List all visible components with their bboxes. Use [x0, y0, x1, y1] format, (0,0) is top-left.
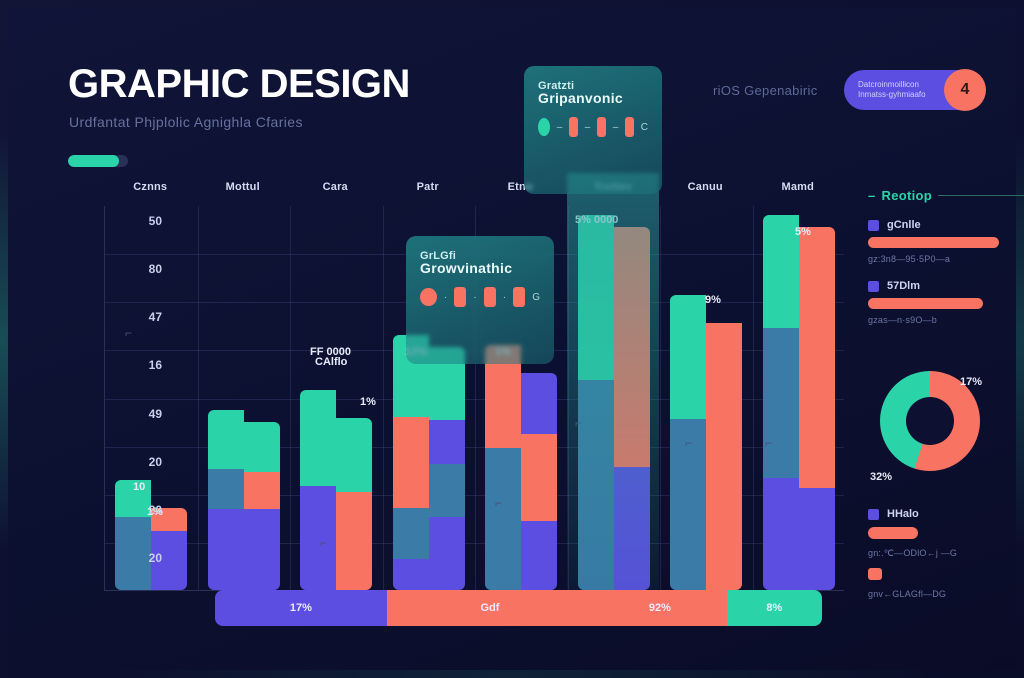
- bar-segment[interactable]: [208, 469, 244, 509]
- y-axis-tick-label: 20: [132, 503, 162, 517]
- header-progress-fill: [68, 155, 119, 167]
- axis-tick-mark: ⌐: [765, 436, 772, 450]
- overlay-card-markers: ···G: [420, 287, 540, 307]
- bar-segment[interactable]: [429, 464, 465, 517]
- status-dot-icon: [420, 288, 437, 306]
- pill-label-line1: Datcroinmoillicon: [858, 80, 950, 90]
- status-dot-icon: [538, 118, 550, 136]
- marker-square-icon: [484, 287, 496, 307]
- chart-annotation: 10: [133, 481, 145, 493]
- legend-item[interactable]: 57Dlmgzas—n·s9O—b: [868, 280, 1024, 325]
- overlay-card-title-line2: Growvinathic: [420, 260, 540, 276]
- bar-column[interactable]: [300, 390, 336, 590]
- dash-separator: ·: [444, 292, 447, 303]
- bar-column[interactable]: [244, 422, 280, 590]
- bar-group[interactable]: [208, 410, 280, 590]
- chart-annotation: FF 0000: [310, 346, 351, 358]
- header-progress-bar: [68, 155, 128, 167]
- legend-item-header: gCnlle: [868, 219, 1024, 231]
- legend-item-header: 57Dlm: [868, 280, 1024, 292]
- y-axis-tick-label: 20: [132, 551, 162, 565]
- panel-legend-items: gCnllegz:3n8—95·5P0—a57Dlmgzas—n·s9O—b: [868, 219, 1024, 325]
- bar-column[interactable]: [208, 410, 244, 590]
- overlay-tooltip-card[interactable]: GrLGfiGrowvinathic···G: [406, 236, 554, 364]
- bar-column[interactable]: [151, 508, 187, 590]
- chart-annotation: 9%: [705, 294, 721, 306]
- segmented-progress-bar[interactable]: 17%Gdf92%8%: [215, 590, 822, 626]
- bar-segment[interactable]: [706, 323, 742, 590]
- bar-segment[interactable]: [670, 295, 706, 419]
- axis-tick-mark: ⌐: [495, 496, 502, 510]
- bar-segment[interactable]: [244, 422, 280, 472]
- bar-column[interactable]: [485, 345, 521, 590]
- header-note: riOS Gepenabiric: [713, 83, 818, 98]
- pill-badge[interactable]: 4: [944, 69, 986, 111]
- donut-label-top: 17%: [960, 376, 982, 388]
- legend-item-bar: [868, 298, 983, 309]
- bar-group[interactable]: [300, 390, 372, 590]
- dash-separator: –: [585, 122, 591, 133]
- right-panel: – Reotiop gCnllegz:3n8—95·5P0—a57Dlmgzas…: [868, 188, 1024, 325]
- header-action-pill[interactable]: Datcroinmoillicon Inmatss-gyhmiaafo 4: [844, 70, 984, 110]
- bar-segment[interactable]: [485, 448, 521, 590]
- bar-segment[interactable]: [300, 486, 336, 590]
- legend-item[interactable]: HHalo: [868, 508, 1024, 520]
- x-axis-tick-label: Cznns: [104, 181, 197, 193]
- legend-item[interactable]: gCnllegz:3n8—95·5P0—a: [868, 219, 1024, 264]
- legend-item-label: 57Dlm: [887, 280, 920, 292]
- legend-swatch-icon: [868, 281, 879, 292]
- legend-item-label: HHalo: [887, 508, 919, 520]
- legend-subtext: gnv←GLAGfl—DG: [868, 589, 1024, 599]
- bar-group[interactable]: [763, 215, 835, 590]
- legend-item-subtext: gzas—n·s9O—b: [868, 315, 1024, 325]
- dash-separator: ·: [503, 292, 506, 303]
- bar-column[interactable]: [429, 347, 465, 590]
- segmented-bar-segment[interactable]: 17%: [215, 590, 387, 626]
- bar-group[interactable]: [115, 480, 187, 590]
- overlay-card-markers: –––C: [538, 117, 648, 137]
- bar-segment[interactable]: [244, 509, 280, 590]
- overlay-card-trail: G: [532, 292, 540, 303]
- axis-tick-mark: ⌐: [125, 326, 132, 340]
- segmented-bar-segment[interactable]: Gdf: [387, 590, 593, 626]
- bar-segment[interactable]: [521, 521, 557, 590]
- y-axis-tick-label: 80: [132, 262, 162, 276]
- bar-segment[interactable]: [429, 420, 465, 464]
- chart-annotation: 1%: [360, 396, 376, 408]
- bar-segment[interactable]: [429, 517, 465, 590]
- bar-group[interactable]: [393, 335, 465, 590]
- bar-group[interactable]: [670, 295, 742, 590]
- legend-swatch-icon: [868, 220, 879, 231]
- bar-segment[interactable]: [208, 509, 244, 590]
- y-axis-tick-label: 49: [132, 407, 162, 421]
- gridline-vertical: [198, 206, 199, 590]
- bar-column[interactable]: [521, 373, 557, 590]
- x-axis-tick-label: Patr: [382, 181, 475, 193]
- legend-swatch-icon: [868, 509, 879, 520]
- bar-segment[interactable]: [244, 472, 280, 509]
- chart-annotation: 5%: [795, 226, 811, 238]
- pill-label-line2: Inmatss-gyhmiaafo: [858, 90, 950, 100]
- bar-segment[interactable]: [300, 390, 336, 486]
- bar-segment[interactable]: [763, 478, 799, 591]
- bar-column[interactable]: [393, 335, 429, 590]
- bar-segment[interactable]: [393, 559, 429, 590]
- panel-heading-label: Reotiop: [882, 188, 932, 203]
- gridline-vertical: [660, 206, 661, 590]
- dash-separator: –: [613, 122, 619, 133]
- panel-heading: – Reotiop: [868, 188, 1024, 203]
- bar-segment[interactable]: [521, 434, 557, 521]
- pill-label: Datcroinmoillicon Inmatss-gyhmiaafo: [858, 80, 950, 100]
- legend-item-bar: [868, 237, 999, 248]
- bar-column[interactable]: [706, 323, 742, 590]
- dashboard-root: GRAPHIC DESIGN Urdfantat Phjplolic Agnig…: [0, 0, 1024, 678]
- axis-tick-mark: ⌐: [320, 536, 327, 550]
- segmented-bar-segment[interactable]: 92%: [593, 590, 727, 626]
- bar-column[interactable]: [799, 227, 835, 590]
- bar-segment[interactable]: [799, 227, 835, 488]
- bar-segment[interactable]: [336, 492, 372, 590]
- gridline-vertical: [383, 206, 384, 590]
- bar-column[interactable]: [115, 480, 151, 590]
- bar-segment[interactable]: [393, 417, 429, 509]
- segmented-bar-segment[interactable]: 8%: [727, 590, 822, 626]
- legend-bar: [868, 527, 918, 539]
- x-axis-tick-label: Mamd: [752, 181, 845, 193]
- marker-square-icon: [625, 117, 633, 137]
- secondary-legend: HHalogn:.℃—ODlO←j —Ggnv←GLAGfl—DG: [868, 508, 1024, 608]
- bar-segment[interactable]: [799, 488, 835, 590]
- bar-column[interactable]: [763, 215, 799, 590]
- x-axis-tick-label: Mottul: [197, 181, 290, 193]
- overlay-card-title-line2: Gripanvonic: [538, 90, 648, 106]
- y-axis-tick-label: 50: [132, 214, 162, 228]
- bar-segment[interactable]: [336, 418, 372, 492]
- dash-separator: –: [557, 122, 563, 133]
- bar-segment[interactable]: [763, 328, 799, 478]
- panel-heading-rule: [938, 195, 1024, 196]
- y-axis-tick-label: 47: [132, 310, 162, 324]
- gridline-vertical: [290, 206, 291, 590]
- bar-segment[interactable]: [393, 508, 429, 559]
- x-axis-tick-label: Canuu: [659, 181, 752, 193]
- legend-chip-icon: [868, 568, 882, 580]
- dash-separator: ·: [473, 292, 476, 303]
- page-title: GRAPHIC DESIGN: [68, 62, 410, 107]
- x-axis-tick-label: Cara: [289, 181, 382, 193]
- marker-square-icon: [597, 117, 605, 137]
- marker-square-icon: [569, 117, 577, 137]
- legend-subtext: gn:.℃—ODlO←j —G: [868, 548, 1024, 559]
- dashboard-surface: GRAPHIC DESIGN Urdfantat Phjplolic Agnig…: [8, 8, 1016, 670]
- legend-item-subtext: gz:3n8—95·5P0—a: [868, 254, 1024, 264]
- legend-item-label: gCnlle: [887, 219, 921, 231]
- axis-tick-mark: ⌐: [685, 436, 692, 450]
- y-axis-tick-label: 16: [132, 358, 162, 372]
- bar-segment[interactable]: [763, 215, 799, 328]
- bar-group[interactable]: [485, 345, 557, 590]
- bar-column[interactable]: [336, 418, 372, 590]
- y-axis-tick-label: 20: [132, 455, 162, 469]
- highlighted-column: [567, 173, 660, 591]
- overlay-card-trail: C: [641, 122, 648, 133]
- panel-heading-dash: –: [868, 188, 876, 203]
- overlay-tooltip-card[interactable]: GratztiGripanvonic–––C: [524, 66, 662, 194]
- marker-square-icon: [513, 287, 525, 307]
- bar-segment[interactable]: [521, 373, 557, 434]
- page-subtitle: Urdfantat Phjplolic Agnighla Cfaries: [69, 114, 303, 130]
- gridline-vertical: [753, 206, 754, 590]
- donut-label-bottom: 32%: [870, 471, 892, 483]
- marker-square-icon: [454, 287, 466, 307]
- bar-segment[interactable]: [208, 410, 244, 469]
